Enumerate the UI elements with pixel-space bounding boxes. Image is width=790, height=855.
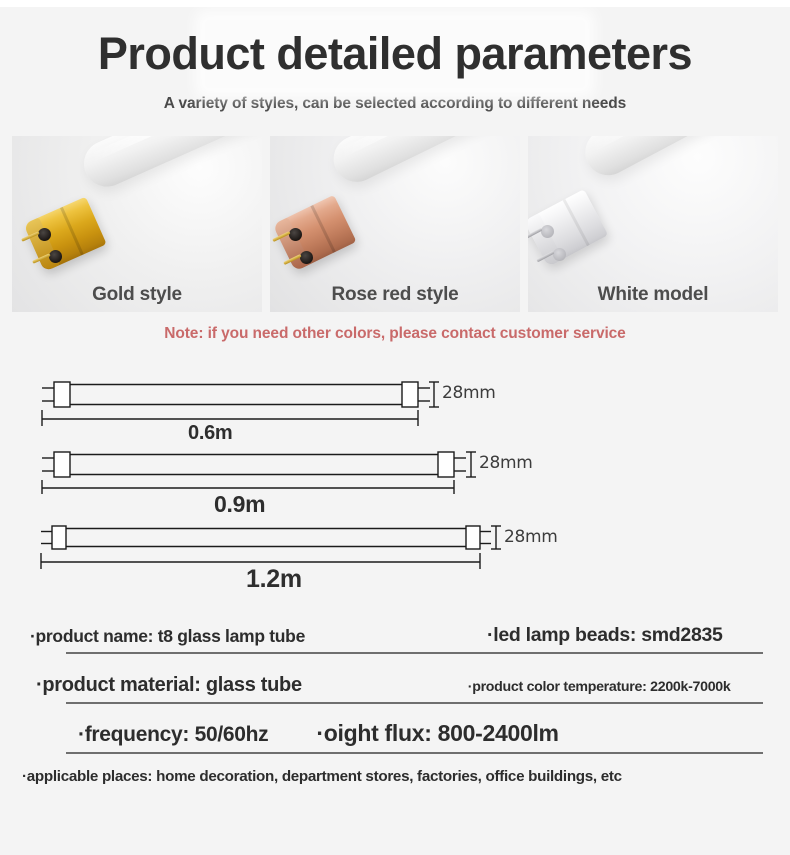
end-cap-ring xyxy=(60,206,84,255)
spec-led-lamp-beads: ·led lamp beads: smd2835 xyxy=(487,624,723,654)
diameter-label: 28mm xyxy=(442,383,496,403)
color-note: Note: if you need other colors, please c… xyxy=(0,325,790,343)
spec-product-name: ·product name: t8 glass lamp tube xyxy=(30,626,305,654)
style-card-caption: Rose red style xyxy=(270,284,520,306)
page-header: Product detailed parameters A variety of… xyxy=(0,0,790,113)
diameter-label: 28mm xyxy=(504,527,558,547)
spec-row-product-name: ·product name: t8 glass lamp tube ·led l… xyxy=(22,604,768,654)
style-card-caption: White model xyxy=(528,284,778,306)
pin-socket xyxy=(300,251,313,264)
length-label-1-2m: 1.2m xyxy=(246,565,302,594)
pin-socket xyxy=(49,250,62,263)
title-wrapper: Product detailed parameters xyxy=(98,30,692,79)
dimension-row-1-2m: 28mm 1.2m xyxy=(38,520,790,594)
spec-color-temperature: ·product color temperature: 2200k-7000k xyxy=(468,679,731,704)
spec-applicable-places: ·applicable places: home decoration, dep… xyxy=(22,768,622,785)
glass-tube-body xyxy=(77,136,262,194)
style-card-gold[interactable]: Gold style xyxy=(12,136,262,312)
tube-outline-drawing xyxy=(38,520,568,580)
end-cap-ring xyxy=(310,204,335,252)
glass-tube-body xyxy=(326,136,520,190)
dimension-diagrams: 28mm 0.6m xyxy=(0,374,790,594)
tube-outline-drawing xyxy=(38,374,508,434)
style-card-row: Gold style Rose red style xyxy=(0,136,790,312)
spec-product-material: ·product material: glass tube xyxy=(36,674,302,704)
length-label-0-9m: 0.9m xyxy=(214,491,265,518)
specification-table: ·product name: t8 glass lamp tube ·led l… xyxy=(0,604,790,800)
pin-socket xyxy=(38,228,51,241)
end-cap-ring xyxy=(563,199,590,246)
pin-socket xyxy=(289,228,302,241)
glass-tube-body xyxy=(577,136,778,183)
spec-light-flux: ·oight flux: 800-2400lm xyxy=(316,720,558,754)
style-card-white[interactable]: White model xyxy=(528,136,778,312)
spec-row-frequency: ·frequency: 50/60hz ·oight flux: 800-240… xyxy=(22,704,768,754)
product-detail-page: Product detailed parameters A variety of… xyxy=(0,0,790,855)
spec-frequency: ·frequency: 50/60hz xyxy=(78,723,268,754)
pin-socket xyxy=(541,225,554,238)
tube-outline-drawing xyxy=(38,448,538,506)
end-cap-face xyxy=(23,217,60,271)
dimension-row-0-6m: 28mm 0.6m xyxy=(38,374,790,448)
dimension-row-0-9m: 28mm 0.9m xyxy=(38,448,790,520)
style-card-caption: Gold style xyxy=(12,284,262,306)
pin-socket xyxy=(553,248,566,261)
spec-row-applicable-places: ·applicable places: home decoration, dep… xyxy=(22,754,768,800)
page-title: Product detailed parameters xyxy=(98,30,692,79)
diameter-label: 28mm xyxy=(479,453,533,473)
length-label-0-6m: 0.6m xyxy=(188,422,232,445)
spec-row-product-material: ·product material: glass tube ·product c… xyxy=(22,654,768,704)
page-subtitle: A variety of styles, can be selected acc… xyxy=(0,95,790,113)
style-card-rose-red[interactable]: Rose red style xyxy=(270,136,520,312)
